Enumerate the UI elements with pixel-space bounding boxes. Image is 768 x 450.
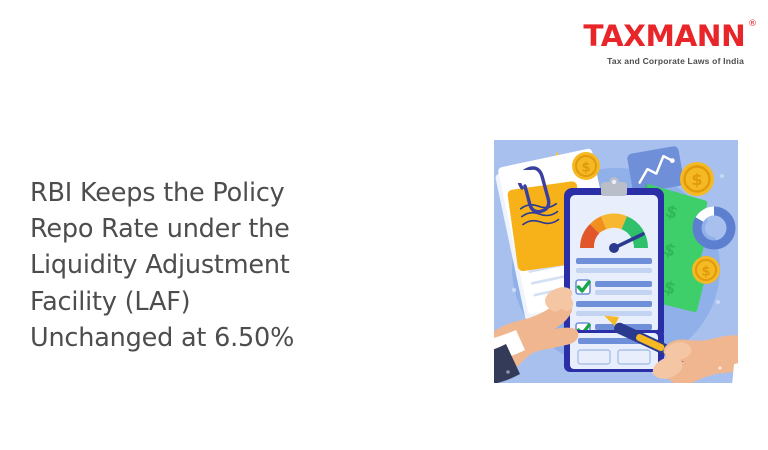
gold-coin-icon: $ xyxy=(572,152,600,180)
form-button-right xyxy=(618,350,650,364)
headline-line-3: Liquidity Adjustment xyxy=(30,250,290,280)
brand-wordmark: TAXMANN® xyxy=(584,22,746,51)
brand-tagline: Tax and Corporate Laws of India xyxy=(584,56,744,66)
gold-coin-icon: $ xyxy=(680,162,714,196)
headline-line-2: Repo Rate under the xyxy=(30,214,290,244)
brand-wordmark-text: TAXMANN xyxy=(584,19,746,53)
gauge-hub xyxy=(609,243,619,253)
headline-line-4: Facility (LAF) xyxy=(30,287,190,317)
svg-text:$: $ xyxy=(701,265,710,280)
headline-line-5: Unchanged at 6.50% xyxy=(30,323,294,353)
form-button-left xyxy=(578,350,610,364)
svg-text:$: $ xyxy=(581,161,590,176)
paperclip-paper-tab xyxy=(514,170,536,183)
clipboard-checklist xyxy=(564,177,664,340)
svg-text:$: $ xyxy=(691,170,702,189)
financial-review-illustration: $ $ $ $ xyxy=(494,140,738,383)
registered-trademark-icon: ® xyxy=(748,20,757,29)
brand-logo: TAXMANN® Tax and Corporate Laws of India xyxy=(584,22,744,66)
gold-coin-icon: $ xyxy=(692,256,720,284)
page-title: RBI Keeps the Policy Repo Rate under the… xyxy=(30,175,360,356)
headline-line-1: RBI Keeps the Policy xyxy=(30,178,285,208)
